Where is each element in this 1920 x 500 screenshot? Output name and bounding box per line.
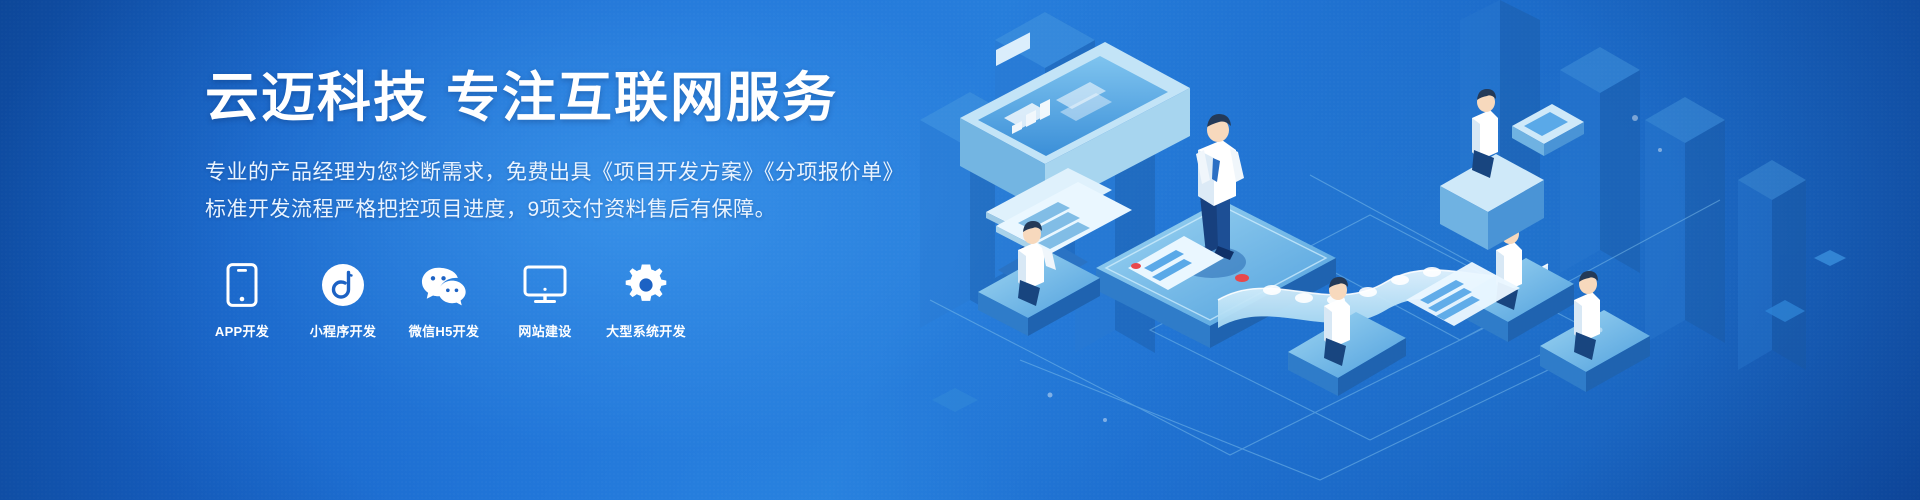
service-label-miniprogram: 小程序开发 [310, 321, 377, 340]
service-label-website: 网站建设 [518, 321, 571, 340]
service-item-app[interactable]: APP开发 [205, 262, 279, 340]
wechat-icon [421, 262, 467, 308]
service-label-wechat: 微信H5开发 [409, 321, 479, 340]
banner-subtitle: 专业的产品经理为您诊断需求，免费出具《项目开发方案》《分项报价单》 标准开发流程… [205, 155, 925, 229]
isometric-tech-team-illustration [900, 0, 1920, 500]
service-item-website[interactable]: 网站建设 [508, 262, 582, 340]
service-label-system: 大型系统开发 [606, 321, 686, 340]
service-item-miniprogram[interactable]: 小程序开发 [306, 262, 380, 340]
service-item-wechat[interactable]: 微信H5开发 [407, 262, 481, 340]
gear-icon [623, 262, 669, 308]
service-item-system[interactable]: 大型系统开发 [609, 262, 683, 340]
subtitle-line-2: 标准开发流程严格把控项目进度，9项交付资料售后有保障。 [205, 192, 925, 229]
service-list: APP开发 小程序开发 [205, 262, 925, 340]
banner-content: 云迈科技 专注互联网服务 专业的产品经理为您诊断需求，免费出具《项目开发方案》《… [205, 66, 925, 340]
page-title: 云迈科技 专注互联网服务 [205, 66, 925, 131]
monitor-icon [522, 262, 568, 308]
service-label-app: APP开发 [215, 321, 269, 340]
mobile-phone-icon [219, 262, 265, 308]
mini-program-icon [320, 262, 366, 308]
subtitle-line-1: 专业的产品经理为您诊断需求，免费出具《项目开发方案》《分项报价单》 [205, 155, 925, 192]
hero-banner: 云迈科技 专注互联网服务 专业的产品经理为您诊断需求，免费出具《项目开发方案》《… [0, 0, 1920, 500]
